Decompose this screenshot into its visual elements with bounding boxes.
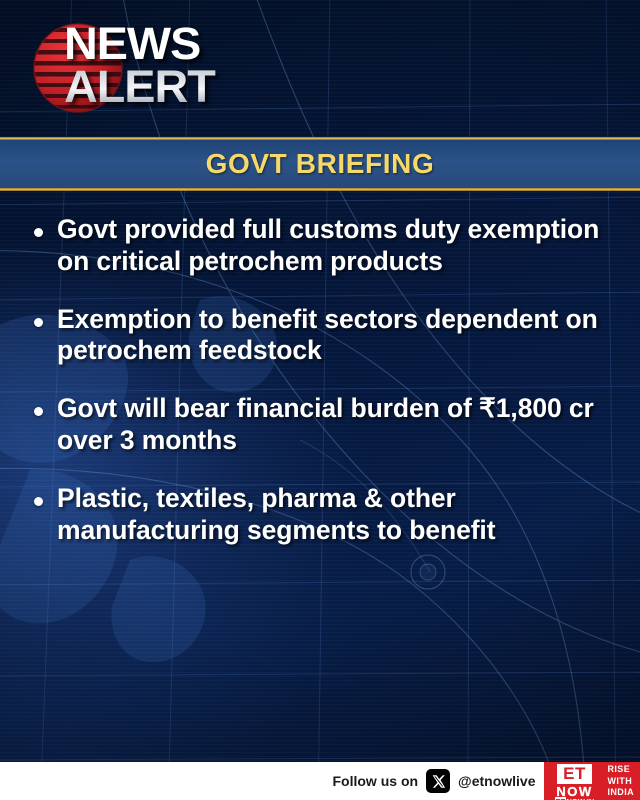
bullet-dot-icon xyxy=(34,497,43,506)
bullet-list: Govt provided full customs duty exemptio… xyxy=(0,200,640,762)
footer-bar: Follow us on @etnowlive ET NOW ETNOW.IN … xyxy=(0,762,640,800)
list-item: Govt provided full customs duty exemptio… xyxy=(34,214,622,278)
follow-us-group: Follow us on @etnowlive xyxy=(333,769,536,793)
band-rule-bottom xyxy=(0,188,640,191)
x-twitter-icon[interactable] xyxy=(426,769,450,793)
list-item-text: Govt provided full customs duty exemptio… xyxy=(57,214,622,278)
bullet-dot-icon xyxy=(34,318,43,327)
et-now-tagline: RISE WITH INDIA xyxy=(606,762,640,800)
bullet-dot-icon xyxy=(34,228,43,237)
news-alert-wordmark: NEWS ALERT xyxy=(64,22,293,108)
et-now-mark: ET NOW ETNOW.IN xyxy=(544,762,606,800)
tagline-line-3: INDIA xyxy=(608,787,635,797)
bullet-dot-icon xyxy=(34,407,43,416)
et-wordmark: ET xyxy=(557,764,592,784)
news-alert-card: NEWS ALERT GOVT BRIEFING Govt provided f… xyxy=(0,0,640,800)
news-alert-logo: NEWS ALERT xyxy=(30,14,290,126)
band-body: GOVT BRIEFING xyxy=(0,140,640,188)
page-title: GOVT BRIEFING xyxy=(206,148,435,180)
headline-band: GOVT BRIEFING xyxy=(0,137,640,191)
list-item: Govt will bear financial burden of ₹1,80… xyxy=(34,393,622,457)
tagline-line-2: WITH xyxy=(608,776,635,786)
logo-line-alert: ALERT xyxy=(64,65,293,108)
et-now-logo[interactable]: ET NOW ETNOW.IN RISE WITH INDIA xyxy=(544,762,640,800)
social-handle[interactable]: @etnowlive xyxy=(458,773,535,789)
list-item-text: Exemption to benefit sectors dependent o… xyxy=(57,304,622,368)
follow-us-label: Follow us on xyxy=(333,773,419,789)
list-item-text: Govt will bear financial burden of ₹1,80… xyxy=(57,393,622,457)
list-item: Plastic, textiles, pharma & other manufa… xyxy=(34,483,622,547)
list-item-text: Plastic, textiles, pharma & other manufa… xyxy=(57,483,622,547)
list-item: Exemption to benefit sectors dependent o… xyxy=(34,304,622,368)
tagline-line-1: RISE xyxy=(608,764,635,774)
logo-line-news: NEWS xyxy=(64,22,293,65)
